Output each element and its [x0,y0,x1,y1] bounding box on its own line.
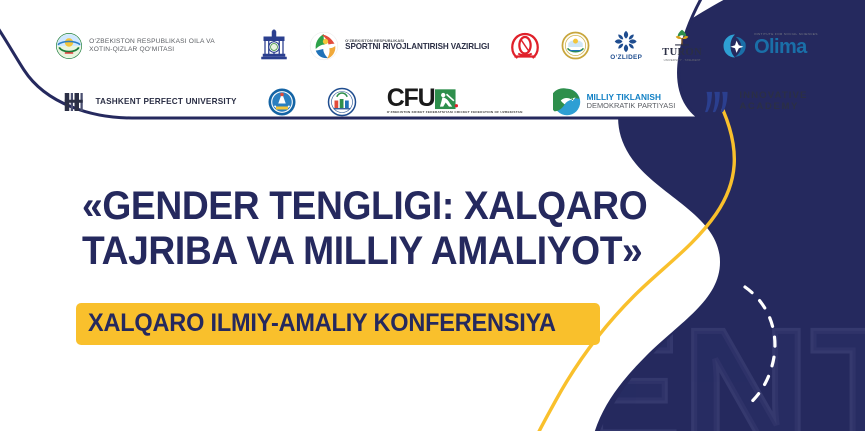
olima-swirl-icon [722,33,748,59]
poster-canvas: ENT ENT [0,0,865,431]
logo-turon: TURON UNIVERSITY · TASHKENT [662,29,702,62]
dove-circle-icon [553,88,581,116]
cfu-sublabel: O‘ZBEKISTON KRIKET FEDERATSIYASI CRICKET… [387,111,523,115]
innovative-academy-sublabel: ACADEMY [739,102,807,113]
logo-red-emblem-org [509,31,541,61]
conference-subtitle-banner: XALQARO ILMIY-AMALIY KONFERENSIYA [76,303,600,345]
tpu-bars-icon [63,90,89,114]
uzbekistan-emblem-icon [55,32,83,60]
logo-label-olima-group: INSTITUTE FOR SOCIAL SCIENCES Olima [754,33,818,59]
logo-row-2: TASHKENT PERFECT UNIVERSITY [0,77,865,127]
logo-label-turon: TURON [662,47,702,58]
gold-crest-icon [561,31,590,60]
white-seal-icon [327,87,357,117]
university-crest-icon [259,29,289,62]
logo-label-sport-ministry: O‘ZBEKISTON RESPUBLIKASI SPORTNI RIVOJLA… [345,39,489,52]
logo-row-1: O‘ZBEKISTON RESPUBLIKASI OILA VA XOTIN-Q… [0,17,865,75]
logo-milliy-tiklanish-party: MILLIY TIKLANISH DEMOKRATIK PARTIYASI [553,88,676,116]
sport-ministry-icon [309,31,339,61]
logo-uzbekistan-family-women-committee: O‘ZBEKISTON RESPUBLIKASI OILA VA XOTIN-Q… [55,32,239,60]
logo-tashkent-perfect-university: TASHKENT PERFECT UNIVERSITY [63,90,236,114]
logo-blue-circular-emblem [267,87,297,117]
conference-title-line-2: TAJRIBA VA MILLIY AMALIYOT» [82,229,647,274]
conference-subtitle-text: XALQARO ILMIY-AMALIY KONFERENSIYA [88,311,556,336]
turon-tree-icon [672,29,692,47]
logo-cricket-federation-uzbekistan: CFU O‘ZBEKISTON KRIKET FEDERATSIYASI CRI… [387,88,523,115]
logo-sublabel-turon: UNIVERSITY · TASHKENT [664,58,701,62]
logo-label-ozlidep: O‘ZLIDEP [610,54,642,61]
logo-olima: INSTITUTE FOR SOCIAL SCIENCES Olima [722,33,818,59]
logo-label-uzbekistan-family-women-committee: O‘ZBEKISTON RESPUBLIKASI OILA VA XOTIN-Q… [89,38,239,53]
logo-innovative-academy: INNOVATIVE ACADEMY [705,90,807,114]
milliy-tiklanish-sublabel: DEMOKRATIK PARTIYASI [587,102,676,110]
innovative-academy-name: INNOVATIVE [739,91,807,102]
logo-label-tashkent-perfect-university: TASHKENT PERFECT UNIVERSITY [95,97,236,107]
logo-label-cfu-group: CFU O‘ZBEKISTON KRIKET FEDERATSIYASI CRI… [387,88,523,115]
conference-title-line-1: «GENDER TENGLIGI: XALQARO [82,184,647,229]
logo-label-innovative-academy-group: INNOVATIVE ACADEMY [739,91,807,112]
ozlidep-flower-icon [614,30,638,53]
three-bars-icon [705,90,733,114]
cricket-player-icon [435,89,458,111]
red-crescent-emblem-icon [509,31,541,61]
logo-label-milliy-tiklanish-group: MILLIY TIKLANISH DEMOKRATIK PARTIYASI [587,93,676,111]
olima-wordmark: Olima [754,36,818,58]
conference-title: «GENDER TENGLIGI: XALQARO TAJRIBA VA MIL… [82,184,690,274]
logo-sport-ministry: O‘ZBEKISTON RESPUBLIKASI SPORTNI RIVOJLA… [309,31,489,61]
sport-ministry-name: SPORTNI RIVOJLANTIRISH VAZIRLIGI [345,43,489,52]
cfu-wordmark: CFU [387,88,435,109]
logo-ozlidep: O‘ZLIDEP [610,30,642,61]
blue-seal-icon [267,87,297,117]
logo-gold-emblem-org [561,31,590,60]
logo-white-circular-emblem [327,87,357,117]
logo-university-emblem [259,29,289,62]
partner-logo-strip: O‘ZBEKISTON RESPUBLIKASI OILA VA XOTIN-Q… [0,0,865,135]
